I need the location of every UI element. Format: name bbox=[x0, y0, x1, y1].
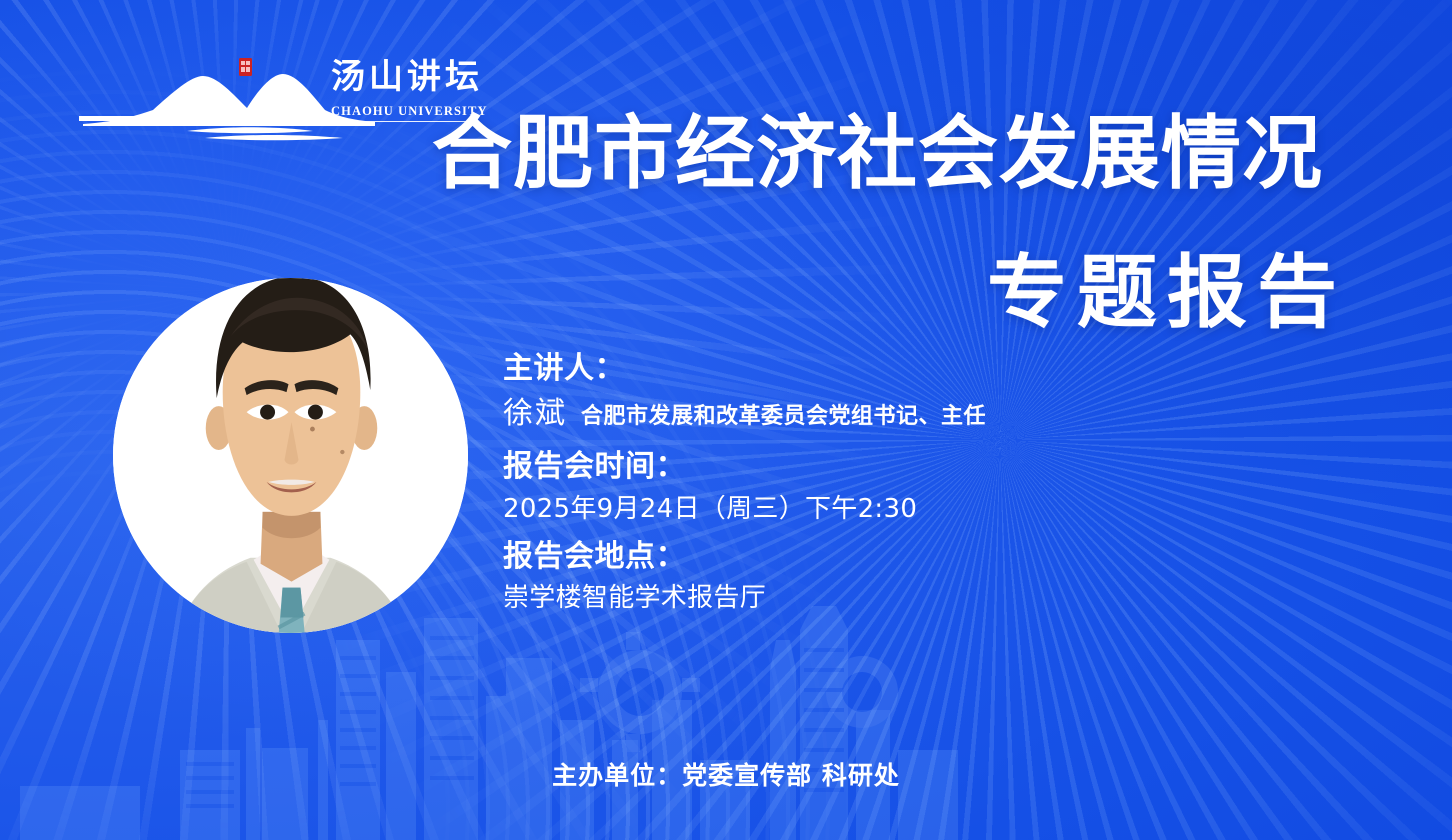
page-title-line1: 合肥市经济社会发展情况 bbox=[432, 113, 1352, 195]
speaker-row: 徐斌 合肥市发展和改革委员会党组书记、主任 bbox=[503, 391, 1383, 436]
city-skyline-decoration bbox=[0, 600, 1452, 840]
speaker-name: 徐斌 bbox=[503, 391, 567, 436]
brand-logo: 汤山讲坛 CHAOHU UNIVERSITY bbox=[75, 52, 415, 142]
event-poster: 汤山讲坛 CHAOHU UNIVERSITY bbox=[0, 0, 1452, 840]
organizer-footer: 主办单位：党委宣传部 科研处 bbox=[0, 756, 1452, 792]
venue-label: 报告会地点： bbox=[503, 536, 1383, 577]
speaker-portrait bbox=[113, 278, 468, 633]
speaker-label: 主讲人： bbox=[503, 348, 1383, 389]
portrait-clip bbox=[113, 278, 468, 633]
logo-name: 汤山讲坛 bbox=[331, 60, 483, 94]
red-seal-icon bbox=[239, 58, 252, 76]
time-value: 2025年9月24日（周三）下午2:30 bbox=[503, 488, 1383, 530]
speaker-position: 合肥市发展和改革委员会党组书记、主任 bbox=[581, 400, 986, 433]
venue-value: 崇学楼智能学术报告厅 bbox=[503, 577, 1383, 619]
time-label: 报告会时间： bbox=[503, 446, 1383, 487]
portrait-illustration bbox=[113, 278, 468, 633]
event-info-block: 主讲人： 徐斌 合肥市发展和改革委员会党组书记、主任 报告会时间： 2025年9… bbox=[503, 348, 1383, 619]
page-title-line2: 专题报告 bbox=[432, 252, 1347, 334]
